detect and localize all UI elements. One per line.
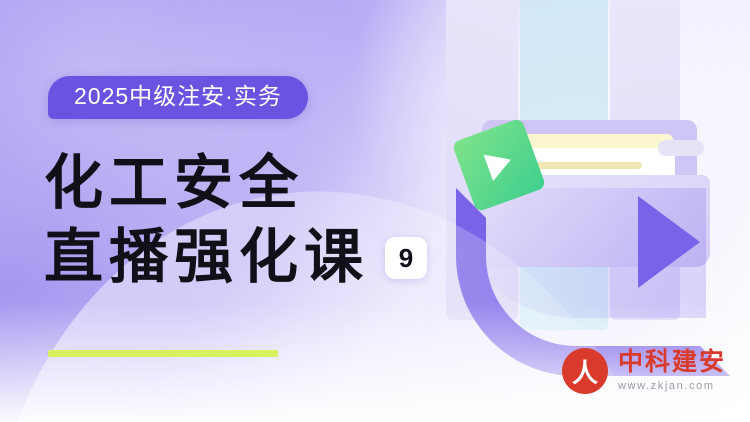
- headline-line-2-text: 直播强化课: [44, 224, 369, 290]
- headline-line-2: 直播强化课9: [44, 220, 427, 294]
- course-banner: 2025中级注安·实务 化工安全 直播强化课9 人 中科建安 www.zkjan…: [0, 0, 750, 422]
- course-tag: 2025中级注安·实务: [48, 76, 308, 119]
- brand-logo: 人 中科建安 www.zkjan.com: [562, 348, 726, 394]
- folder-tab-icon: [658, 140, 704, 156]
- logo-mark-icon: 人: [562, 348, 608, 394]
- headline: 化工安全 直播强化课9: [44, 146, 427, 294]
- document-line-icon: [522, 162, 642, 169]
- headline-line-1: 化工安全: [44, 146, 427, 220]
- logo-text: 中科建安 www.zkjan.com: [618, 350, 726, 392]
- logo-url: www.zkjan.com: [618, 381, 726, 392]
- arrow-head-icon: [638, 196, 700, 288]
- episode-badge: 9: [385, 237, 427, 279]
- play-icon: [484, 146, 516, 181]
- logo-name: 中科建安: [618, 350, 726, 375]
- headline-underline: [48, 350, 278, 357]
